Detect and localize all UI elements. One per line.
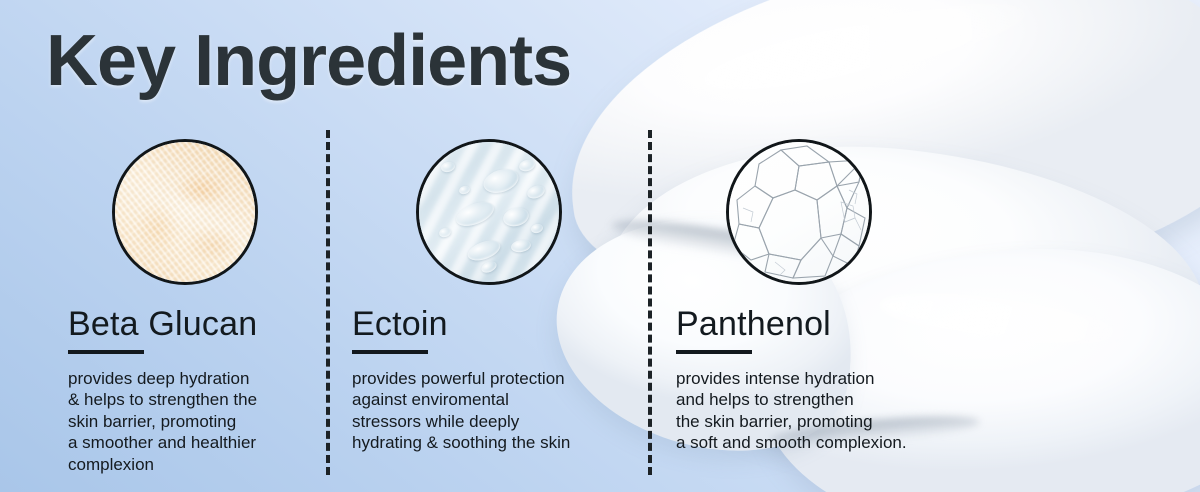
ingredient-name-beta-glucan: Beta Glucan — [68, 307, 318, 343]
description-line: hydrating & soothing the skin — [352, 432, 632, 454]
panthenol-swatch — [726, 139, 872, 285]
description-line: provides intense hydration — [676, 368, 966, 390]
description-line: a smoother and healthier — [68, 432, 318, 454]
ectoin-swatch — [416, 139, 562, 285]
heading-rule — [68, 350, 144, 354]
column-divider-1 — [326, 130, 330, 475]
beta-glucan-swatch — [112, 139, 258, 285]
key-ingredients-infographic: Key Ingredients Beta Glucan provides dee… — [0, 0, 1200, 492]
description-line: and helps to strengthen — [676, 389, 966, 411]
foam-bubbles-texture-icon — [729, 142, 869, 282]
description-line: complexion — [68, 454, 318, 476]
description-line: provides powerful protection — [352, 368, 632, 390]
ingredient-name-panthenol: Panthenol — [676, 307, 966, 343]
ingredient-description-panthenol: provides intense hydration and helps to … — [676, 368, 966, 454]
description-line: against enviromental — [352, 389, 632, 411]
ingredient-description-beta-glucan: provides deep hydration & helps to stren… — [68, 368, 318, 476]
description-line: the skin barrier, promoting — [676, 411, 966, 433]
column-divider-2 — [648, 130, 652, 475]
ingredient-name-ectoin: Ectoin — [352, 307, 632, 343]
page-title: Key Ingredients — [46, 20, 571, 102]
heading-rule — [676, 350, 752, 354]
water-droplets-texture-icon — [419, 142, 559, 282]
description-line: skin barrier, promoting — [68, 411, 318, 433]
description-line: & helps to strengthen the — [68, 389, 318, 411]
ingredient-description-ectoin: provides powerful protection against env… — [352, 368, 632, 454]
ingredient-column-beta-glucan: Beta Glucan provides deep hydration & he… — [68, 139, 318, 475]
cream-highlight-upper — [698, 0, 1032, 108]
description-line: provides deep hydration — [68, 368, 318, 390]
beta-glucan-texture-icon — [115, 142, 255, 282]
heading-rule — [352, 350, 428, 354]
description-line: stressors while deeply — [352, 411, 632, 433]
description-line: a soft and smooth complexion. — [676, 432, 966, 454]
ingredient-column-panthenol: Panthenol provides intense hydration and… — [676, 139, 966, 454]
ingredient-column-ectoin: Ectoin provides powerful protection agai… — [352, 139, 632, 454]
